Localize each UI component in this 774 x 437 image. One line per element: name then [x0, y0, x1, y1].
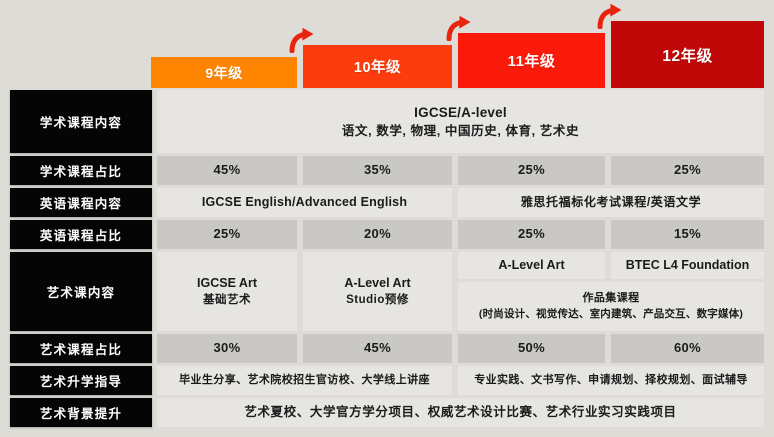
cell-academic-content-title: IGCSE/A-level: [414, 103, 507, 123]
cell-art-content-g10: A-Level Art Studio预修: [303, 252, 452, 331]
cell-art-ratio-g9-value: 30%: [214, 339, 241, 358]
grade-tab-10-label: 10年级: [354, 56, 401, 77]
cell-english-ratio-g10: 20%: [303, 220, 452, 249]
cell-art-ratio-g9: 30%: [157, 334, 297, 363]
cell-english-ratio-g10-value: 20%: [364, 225, 391, 244]
row-label-english-ratio-text: 英语课程占比: [40, 225, 122, 244]
cell-english-content-g9-g10-text: IGCSE English/Advanced English: [202, 193, 407, 211]
row-label-art-content-text: 艺术课内容: [47, 282, 116, 301]
cell-art-background-all-grades: 艺术夏校、大学官方学分项目、权威艺术设计比赛、艺术行业实习实践项目: [157, 398, 764, 427]
cell-art-ratio-g11: 50%: [458, 334, 605, 363]
cell-art-content-g12-top: BTEC L4 Foundation: [611, 252, 764, 279]
row-label-art-guidance-text: 艺术升学指导: [40, 371, 122, 390]
grade-tab-12[interactable]: 12年级: [611, 21, 764, 88]
cell-academic-ratio-g12: 25%: [611, 156, 764, 185]
cell-art-content-g9-cn: 基础艺术: [203, 292, 251, 309]
grade-tab-11-label: 11年级: [508, 50, 556, 71]
cell-art-content-g10-cn: Studio预修: [346, 292, 409, 309]
row-label-academic-ratio: 学术课程占比: [10, 156, 152, 185]
cell-english-content-g9-g10: IGCSE English/Advanced English: [157, 188, 452, 217]
cell-art-guidance-g9-g10: 毕业生分享、艺术院校招生官访校、大学线上讲座: [157, 366, 452, 395]
cell-art-content-g11-top: A-Level Art: [458, 252, 605, 279]
row-label-art-background: 艺术背景提升: [10, 398, 152, 427]
cell-art-guidance-g11-g12-text: 专业实践、文书写作、申请规划、择校规划、面试辅导: [474, 373, 748, 389]
cell-english-ratio-g12-value: 15%: [674, 225, 701, 244]
grade-tab-12-label: 12年级: [662, 44, 712, 66]
cell-art-ratio-g10-value: 45%: [364, 339, 391, 358]
row-label-art-content: 艺术课内容: [10, 252, 152, 331]
grade-tab-9[interactable]: 9年级: [151, 57, 297, 88]
cell-art-content-g12-top-text: BTEC L4 Foundation: [626, 256, 750, 274]
cell-academic-ratio-g12-value: 25%: [674, 161, 701, 180]
cell-art-content-g9: IGCSE Art 基础艺术: [157, 252, 297, 331]
cell-art-content-portfolio-title: 作品集课程: [583, 291, 640, 307]
cell-art-ratio-g12-value: 60%: [674, 339, 701, 358]
cell-art-guidance-g9-g10-text: 毕业生分享、艺术院校招生官访校、大学线上讲座: [179, 373, 430, 389]
grade-tab-10[interactable]: 10年级: [303, 45, 452, 88]
cell-art-content-g10-en: A-Level Art: [344, 274, 410, 292]
cell-english-content-g11-g12: 雅思托福标化考试课程/英语文学: [458, 188, 764, 217]
grade-tab-11[interactable]: 11年级: [458, 33, 605, 88]
cell-art-content-portfolio: 作品集课程 (时尚设计、视觉传达、室内建筑、产品交互、数字媒体): [458, 282, 764, 331]
cell-art-content-portfolio-detail: (时尚设计、视觉传达、室内建筑、产品交互、数字媒体): [479, 307, 743, 322]
cell-art-content-g9-en: IGCSE Art: [197, 274, 257, 292]
cell-english-ratio-g12: 15%: [611, 220, 764, 249]
cell-academic-ratio-g10: 35%: [303, 156, 452, 185]
row-label-art-ratio-text: 艺术课程占比: [40, 339, 122, 358]
row-label-art-guidance: 艺术升学指导: [10, 366, 152, 395]
cell-english-content-g11-g12-text: 雅思托福标化考试课程/英语文学: [521, 194, 701, 211]
cell-art-ratio-g10: 45%: [303, 334, 452, 363]
row-label-english-content: 英语课程内容: [10, 188, 152, 217]
row-label-academic-ratio-text: 学术课程占比: [40, 161, 122, 180]
grade-tabs-row: 9年级 10年级 11年级 12年级: [0, 0, 774, 88]
course-plan-board: 9年级 10年级 11年级 12年级 学术课程内容 学术课程占比 英语课程内容 …: [0, 0, 774, 437]
cell-academic-ratio-g11: 25%: [458, 156, 605, 185]
cell-english-ratio-g9-value: 25%: [214, 225, 241, 244]
cell-art-ratio-g12: 60%: [611, 334, 764, 363]
cell-english-ratio-g11: 25%: [458, 220, 605, 249]
cell-academic-ratio-g11-value: 25%: [518, 161, 545, 180]
row-label-english-ratio: 英语课程占比: [10, 220, 152, 249]
row-label-art-ratio: 艺术课程占比: [10, 334, 152, 363]
cell-art-guidance-g11-g12: 专业实践、文书写作、申请规划、择校规划、面试辅导: [458, 366, 764, 395]
cell-academic-ratio-g10-value: 35%: [364, 161, 391, 180]
cell-english-ratio-g11-value: 25%: [518, 225, 545, 244]
row-label-english-content-text: 英语课程内容: [40, 193, 122, 212]
cell-academic-ratio-g9-value: 45%: [214, 161, 241, 180]
grade-tab-9-label: 9年级: [205, 63, 242, 83]
cell-academic-content-all-grades: IGCSE/A-level 语文, 数学, 物理, 中国历史, 体育, 艺术史: [157, 90, 764, 153]
curriculum-grid: 学术课程内容 学术课程占比 英语课程内容 英语课程占比 艺术课内容 艺术课程占比…: [0, 88, 774, 437]
cell-art-content-g11-top-text: A-Level Art: [498, 256, 564, 274]
cell-academic-ratio-g9: 45%: [157, 156, 297, 185]
cell-academic-content-subjects: 语文, 数学, 物理, 中国历史, 体育, 艺术史: [342, 122, 579, 140]
row-label-art-background-text: 艺术背景提升: [40, 403, 122, 422]
cell-english-ratio-g9: 25%: [157, 220, 297, 249]
cell-art-ratio-g11-value: 50%: [518, 339, 545, 358]
row-label-academic-content-text: 学术课程内容: [40, 112, 122, 131]
row-label-academic-content: 学术课程内容: [10, 90, 152, 153]
cell-art-background-text: 艺术夏校、大学官方学分项目、权威艺术设计比赛、艺术行业实习实践项目: [244, 403, 676, 421]
